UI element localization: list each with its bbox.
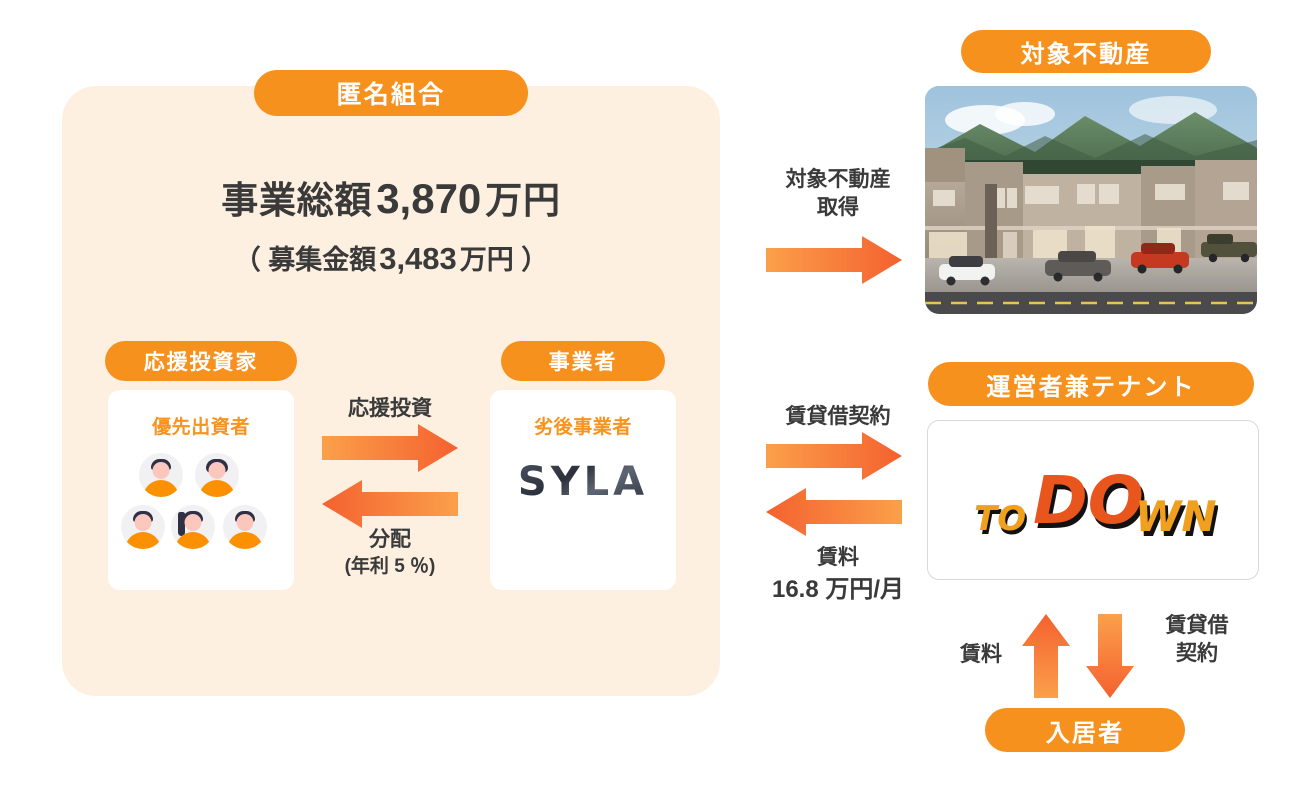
distribute-label-main: 分配: [300, 526, 480, 554]
lease-rent-arrows: [766, 432, 902, 536]
avatar-body-icon: [199, 480, 235, 497]
avatar-head-icon: [237, 514, 254, 531]
resident-lease-line1: 賃貸借: [1142, 612, 1252, 640]
resident-rent-label: 賃料: [936, 638, 1026, 668]
avatar-head-icon: [153, 462, 170, 479]
operator-card-label: 劣後事業者: [534, 412, 632, 439]
distribute-flow-label: 分配 (年利 5 ％): [300, 526, 480, 580]
offer-amount-label: （ 募集金額: [234, 245, 377, 275]
avatar-head-icon: [209, 462, 226, 479]
avatar: [139, 453, 183, 497]
avatar: [171, 505, 215, 549]
resident-badge: 入居者: [985, 708, 1185, 752]
syla-logo: SYLA: [518, 459, 648, 505]
investor-card-label: 優先出資者: [152, 412, 250, 439]
resident-flow-arrows: [1022, 614, 1134, 698]
avatar-head-icon: [135, 514, 152, 531]
avatar-body-icon: [125, 532, 161, 549]
property-acquire-line2: 取得: [748, 194, 928, 222]
tenant-badge: 運営者兼テナント: [928, 362, 1254, 406]
total-amount-unit: 万円: [485, 180, 560, 221]
property-photo: [925, 86, 1257, 314]
rent-amount: 16.8 万円/月: [738, 573, 938, 606]
property-acquire-label: 対象不動産 取得: [748, 166, 928, 221]
investor-card: 優先出資者: [108, 390, 294, 590]
avatar-head-icon: [185, 514, 202, 531]
avatar: [121, 505, 165, 549]
todown-text-do: DO: [1033, 462, 1144, 539]
distribute-label-rate: (年利 5 ％): [300, 554, 480, 579]
avatar-body-icon: [227, 532, 263, 549]
todown-logo: TO TO DO DO WN WN: [968, 454, 1218, 546]
investor-badge: 応援投資家: [105, 341, 297, 381]
operator-badge: 事業者: [501, 341, 665, 381]
total-amount-line: 事業総額3,870万円: [62, 170, 720, 224]
property-acquire-arrow: [766, 236, 902, 284]
rent-label: 賃料: [738, 544, 938, 573]
offer-amount-line: （ 募集金額3,483万円 ）: [62, 238, 720, 277]
investor-avatar-group: [121, 453, 281, 563]
scheme-diagram: 匿名組合 事業総額3,870万円 （ 募集金額3,483万円 ） 応援投資家 優…: [0, 0, 1296, 800]
property-badge: 対象不動産: [961, 30, 1211, 73]
lease-flow-label: 賃貸借契約: [748, 400, 928, 430]
todown-text-wn: WN: [1135, 492, 1216, 541]
property-photo-illustration: [925, 86, 1257, 314]
invest-flow-label: 応援投資: [300, 392, 480, 422]
resident-lease-line2: 契約: [1142, 640, 1252, 668]
avatar: [195, 453, 239, 497]
resident-lease-label: 賃貸借 契約: [1142, 612, 1252, 668]
offer-amount-value: 3,483: [379, 241, 457, 276]
total-amount-label: 事業総額: [221, 180, 372, 221]
partnership-badge: 匿名組合: [254, 70, 528, 116]
tenant-card: TO TO DO DO WN WN: [927, 420, 1259, 580]
avatar-body-icon: [143, 480, 179, 497]
invest-distribute-arrows: [322, 424, 458, 528]
total-amount-value: 3,870: [376, 175, 481, 222]
rent-amount-label: 賃料 16.8 万円/月: [738, 544, 938, 606]
operator-card: 劣後事業者 SYLA: [490, 390, 676, 590]
avatar: [223, 505, 267, 549]
offer-amount-unit: 万円 ）: [460, 245, 549, 275]
todown-text-to: TO: [974, 499, 1026, 539]
property-acquire-line1: 対象不動産: [748, 166, 928, 194]
